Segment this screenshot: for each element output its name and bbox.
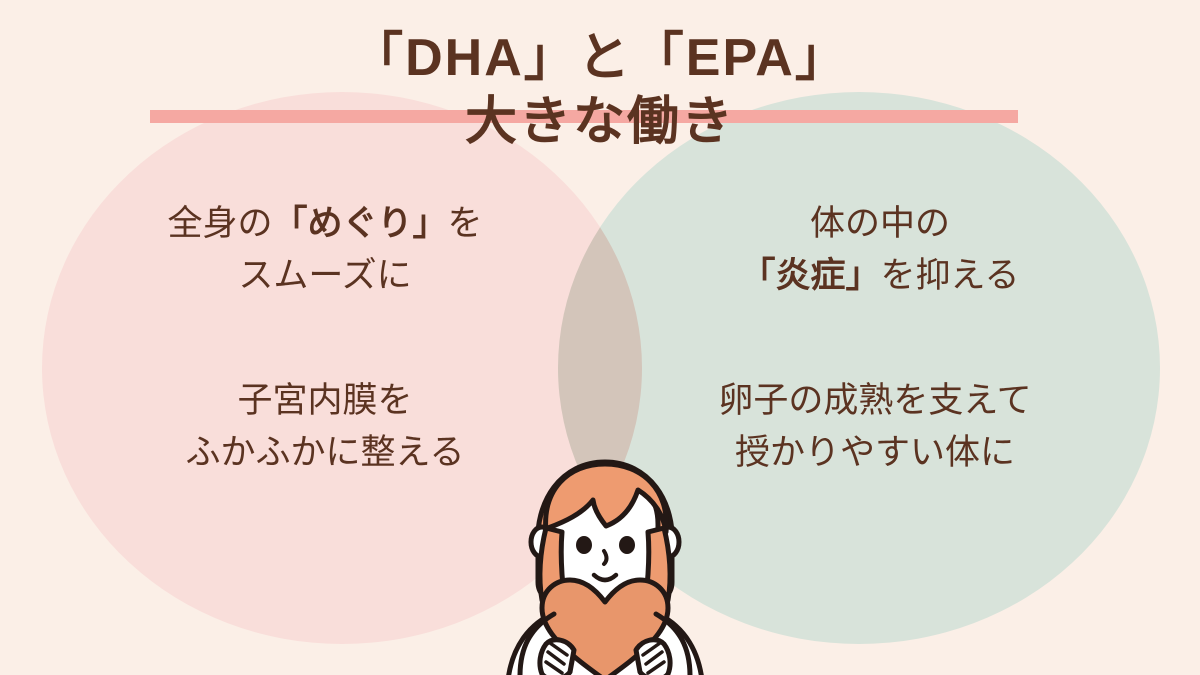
- text-line: 全身の「めぐり」を: [60, 198, 590, 250]
- text-line: 「炎症」を抑える: [620, 250, 1140, 302]
- plain-text: 全身の: [167, 204, 272, 243]
- plain-text: 卵子の成熟を支えて: [718, 381, 1031, 420]
- plain-text: 体の中の: [810, 204, 950, 243]
- text-line: 卵子の成熟を支えて: [610, 375, 1140, 427]
- left-benefit-1: 全身の「めぐり」をスムーズに: [60, 198, 590, 302]
- eye-right: [619, 536, 635, 554]
- emphasized-text: 「炎症」: [741, 256, 881, 295]
- plain-text: 授かりやすい体に: [735, 433, 1015, 472]
- plain-text: を抑える: [881, 256, 1020, 295]
- plain-text: ふかふかに整える: [186, 433, 465, 472]
- right-benefit-1: 体の中の「炎症」を抑える: [620, 198, 1140, 302]
- plain-text: 子宮内膜を: [237, 381, 412, 420]
- text-line: 子宮内膜を: [60, 375, 590, 427]
- emphasized-text: 「めぐり」: [272, 204, 447, 243]
- slide-canvas: 「DHA」と「EPA」 大きな働き 全身の「めぐり」をスムーズに 子宮内膜をふか…: [0, 0, 1200, 675]
- title-underline-rule: [150, 110, 1018, 123]
- plain-text: を: [448, 204, 483, 243]
- woman-holding-heart-illustration: [494, 432, 716, 675]
- plain-text: スムーズに: [238, 256, 411, 295]
- eye-left: [576, 536, 592, 554]
- text-line: 体の中の: [620, 198, 1140, 250]
- text-line: スムーズに: [60, 250, 590, 302]
